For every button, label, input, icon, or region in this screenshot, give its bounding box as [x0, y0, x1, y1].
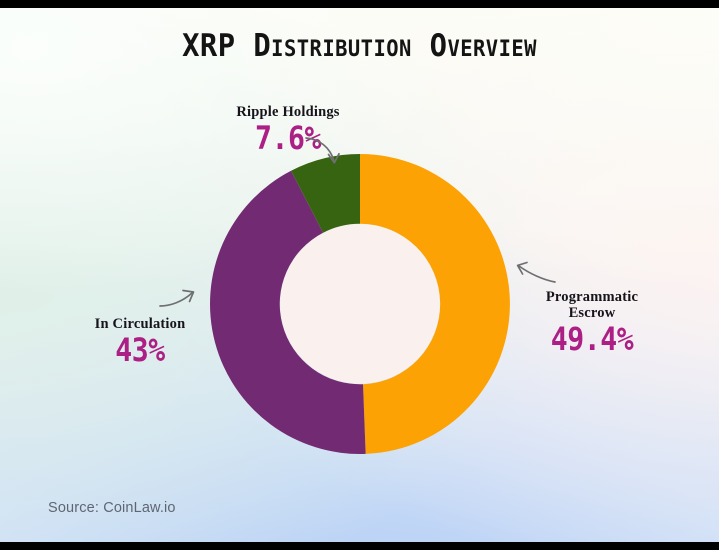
curved-arrow-left-icon: [514, 259, 558, 287]
curved-arrow-right-icon: [158, 286, 202, 312]
letterbox-bar-top: [0, 0, 719, 8]
curved-arrow-down-right-icon: [303, 134, 351, 168]
infographic-root: XRP Distribution Overview Ripple Holding…: [0, 0, 719, 550]
callout-label-in-circulation: In Circulation: [50, 316, 230, 332]
source-attribution: Source: CoinLaw.io: [48, 500, 176, 516]
callout-in-circulation: In Circulation 43%: [50, 316, 230, 368]
donut-chart: [204, 148, 516, 460]
callout-ripple-holdings: Ripple Holdings 7.6%: [198, 104, 378, 156]
page-title: XRP Distribution Overview: [25, 28, 694, 64]
chart-canvas: XRP Distribution Overview Ripple Holding…: [0, 8, 719, 542]
callout-label-ripple-holdings: Ripple Holdings: [198, 104, 378, 120]
callout-programmatic-escrow: Programmatic Escrow 49.4%: [512, 289, 672, 357]
callout-label-programmatic-escrow-line1: Programmatic: [512, 289, 672, 305]
donut-hole: [280, 224, 440, 384]
callout-value-in-circulation: 43%: [61, 334, 219, 368]
donut-chart-svg: [204, 148, 516, 460]
callout-label-programmatic-escrow-line2: Escrow: [512, 305, 672, 321]
callout-value-programmatic-escrow: 49.4%: [522, 323, 663, 357]
letterbox-bar-bottom: [0, 542, 719, 550]
